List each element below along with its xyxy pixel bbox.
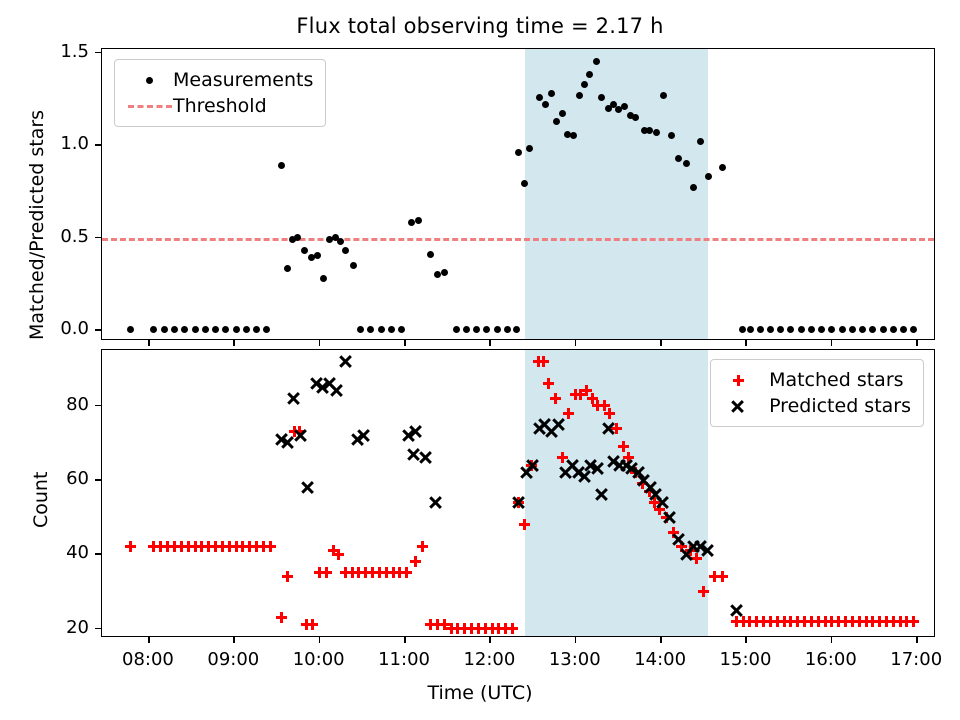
- data-point-matched-star: [536, 354, 551, 369]
- data-point-matched-star: [280, 569, 295, 584]
- legend-label-threshold: Threshold: [173, 95, 267, 117]
- data-point-matched-star: [263, 539, 278, 554]
- x-axis-tick-label: 09:00: [188, 649, 278, 670]
- y-axis-tick-label: 1.5: [19, 43, 89, 61]
- data-point-predicted-star: [300, 480, 315, 495]
- x-axis-tick: [745, 340, 747, 346]
- data-point-measurement: [453, 326, 460, 333]
- x-axis-tick-label: 10:00: [274, 649, 364, 670]
- data-point-predicted-star: [511, 495, 526, 510]
- x-axis-tick: [916, 340, 918, 346]
- data-point-predicted-star: [590, 461, 605, 476]
- data-point-measurement: [581, 81, 588, 88]
- x-axis-tick: [831, 340, 833, 346]
- legend-entry-matched-stars: Matched stars: [723, 367, 911, 393]
- x-axis-tick-label: 16:00: [786, 649, 876, 670]
- data-point-measurement: [171, 326, 178, 333]
- data-point-measurement: [301, 247, 308, 254]
- data-point-measurement: [747, 326, 754, 333]
- legend-entry-threshold: Threshold: [127, 93, 313, 119]
- data-point-measurement: [621, 103, 628, 110]
- data-point-matched-star: [602, 406, 617, 421]
- data-point-measurement: [808, 326, 815, 333]
- data-point-predicted-star: [357, 428, 372, 443]
- data-point-measurement: [294, 234, 301, 241]
- data-point-measurement: [660, 92, 667, 99]
- data-point-measurement: [798, 326, 805, 333]
- x-axis-tick: [660, 340, 662, 346]
- x-axis-tick-label: 08:00: [103, 649, 193, 670]
- data-point-measurement: [705, 173, 712, 180]
- matched-plus-icon: [723, 370, 769, 390]
- data-point-measurement: [739, 326, 746, 333]
- data-point-measurement: [473, 326, 480, 333]
- data-point-measurement: [314, 252, 321, 259]
- x-axis-tick-label: 15:00: [700, 649, 790, 670]
- data-point-measurement: [869, 326, 876, 333]
- data-point-measurement: [253, 326, 260, 333]
- x-axis-label: Time (UTC): [0, 682, 960, 704]
- data-point-predicted-star: [526, 458, 541, 473]
- legend-label-matched-stars: Matched stars: [769, 369, 903, 391]
- data-point-predicted-star: [601, 421, 616, 436]
- ratio-legend: Measurements Threshold: [114, 59, 326, 127]
- data-point-measurement: [849, 326, 856, 333]
- data-point-matched-star: [548, 391, 563, 406]
- data-point-matched-star: [505, 621, 520, 636]
- data-point-measurement: [483, 326, 490, 333]
- data-point-measurement: [719, 164, 726, 171]
- data-point-measurement: [880, 326, 887, 333]
- data-point-matched-star: [415, 539, 430, 554]
- data-point-measurement: [398, 326, 405, 333]
- x-axis-tick-label: 13:00: [530, 649, 620, 670]
- data-point-measurement: [212, 326, 219, 333]
- x-axis-tick: [489, 340, 491, 346]
- x-axis-tick-label: 14:00: [615, 649, 705, 670]
- data-point-matched-star: [541, 376, 556, 391]
- data-point-matched-star: [305, 617, 320, 632]
- data-point-matched-star: [331, 547, 346, 562]
- data-point-measurement: [646, 127, 653, 134]
- data-point-measurement: [828, 326, 835, 333]
- y-axis-tick-label: 80: [19, 396, 89, 414]
- data-point-measurement: [632, 114, 639, 121]
- x-axis-tick: [660, 637, 662, 643]
- figure-title: Flux total observing time = 2.17 h: [0, 14, 960, 38]
- data-point-measurement: [757, 326, 764, 333]
- data-point-matched-star: [319, 565, 334, 580]
- legend-entry-measurements: Measurements: [127, 67, 313, 93]
- data-point-measurement: [463, 326, 470, 333]
- data-point-measurement: [357, 326, 364, 333]
- data-point-measurement: [777, 326, 784, 333]
- data-point-measurement: [342, 247, 349, 254]
- data-point-measurement: [127, 326, 134, 333]
- y-axis-tick-label: 1.0: [19, 135, 89, 153]
- x-axis-tick: [319, 637, 321, 643]
- x-axis-tick: [148, 340, 150, 346]
- y-axis-tick: [95, 628, 101, 630]
- x-axis-tick: [575, 340, 577, 346]
- data-point-measurement: [415, 217, 422, 224]
- data-point-measurement: [278, 162, 285, 169]
- y-axis-tick: [95, 405, 101, 407]
- data-point-matched-star: [517, 517, 532, 532]
- data-point-measurement: [337, 238, 344, 245]
- data-point-measurement: [388, 326, 395, 333]
- data-point-predicted-star: [662, 510, 677, 525]
- count-panel: Matched stars Predicted stars: [101, 349, 935, 637]
- data-point-measurement: [150, 326, 157, 333]
- y-axis-tick: [95, 479, 101, 481]
- x-axis-tick: [575, 637, 577, 643]
- y-axis-tick: [95, 144, 101, 146]
- data-point-measurement: [542, 101, 549, 108]
- data-point-matched-star: [408, 554, 423, 569]
- data-point-measurement: [787, 326, 794, 333]
- predicted-cross-icon: [723, 396, 769, 416]
- data-point-measurement: [890, 326, 897, 333]
- data-point-predicted-star: [287, 391, 302, 406]
- data-point-measurement: [536, 94, 543, 101]
- x-axis-tick: [319, 340, 321, 346]
- y-axis-tick-label: 0.0: [19, 320, 89, 338]
- data-point-predicted-star: [551, 417, 566, 432]
- data-point-measurement: [767, 326, 774, 333]
- data-point-measurement: [515, 149, 522, 156]
- data-point-measurement: [675, 155, 682, 162]
- data-point-measurement: [513, 326, 520, 333]
- data-point-matched-star: [123, 539, 138, 554]
- data-point-measurement: [910, 326, 917, 333]
- data-point-matched-star: [274, 610, 289, 625]
- data-point-measurement: [900, 326, 907, 333]
- x-axis-tick-label: 11:00: [359, 649, 449, 670]
- legend-entry-predicted-stars: Predicted stars: [723, 393, 911, 419]
- data-point-measurement: [243, 326, 250, 333]
- y-axis-tick: [95, 237, 101, 239]
- legend-label-measurements: Measurements: [173, 69, 313, 91]
- y-axis-tick-label: 0.5: [19, 228, 89, 246]
- y-axis-tick: [95, 553, 101, 555]
- data-point-measurement: [367, 326, 374, 333]
- legend-label-predicted-stars: Predicted stars: [769, 395, 911, 417]
- data-point-measurement: [222, 326, 229, 333]
- data-point-measurement: [653, 129, 660, 136]
- y-axis-tick: [95, 52, 101, 54]
- data-point-measurement: [576, 92, 583, 99]
- data-point-predicted-star: [729, 603, 744, 618]
- x-axis-tick: [831, 637, 833, 643]
- data-point-measurement: [378, 326, 385, 333]
- x-axis-tick-label: 12:00: [444, 649, 534, 670]
- threshold-dash-icon: [127, 96, 173, 116]
- data-point-measurement: [839, 326, 846, 333]
- data-point-measurement: [504, 326, 511, 333]
- data-point-measurement: [598, 94, 605, 101]
- x-axis-tick: [404, 637, 406, 643]
- x-axis-tick: [489, 637, 491, 643]
- data-point-measurement: [441, 269, 448, 276]
- data-point-measurement: [263, 326, 270, 333]
- threshold-line: [102, 238, 934, 241]
- ratio-panel: Measurements Threshold: [101, 48, 935, 340]
- count-legend: Matched stars Predicted stars: [710, 359, 924, 427]
- x-axis-tick: [745, 637, 747, 643]
- x-axis-tick: [148, 637, 150, 643]
- data-point-measurement: [320, 275, 327, 282]
- x-axis-tick-label: 17:00: [871, 649, 960, 670]
- data-point-matched-star: [696, 584, 711, 599]
- data-point-matched-star: [715, 569, 730, 584]
- data-point-predicted-star: [428, 495, 443, 510]
- measurements-dot-icon: [127, 70, 173, 90]
- data-point-measurement: [427, 251, 434, 258]
- data-point-measurement: [181, 326, 188, 333]
- data-point-measurement: [202, 326, 209, 333]
- data-point-measurement: [859, 326, 866, 333]
- data-point-predicted-star: [293, 428, 308, 443]
- data-point-predicted-star: [329, 383, 344, 398]
- data-point-predicted-star: [700, 543, 715, 558]
- data-point-predicted-star: [655, 495, 670, 510]
- data-point-predicted-star: [408, 424, 423, 439]
- y-axis-tick: [95, 329, 101, 331]
- y-axis-tick-label: 40: [19, 544, 89, 562]
- y-axis-tick-label: 20: [19, 619, 89, 637]
- figure-root: Flux total observing time = 2.17 h Measu…: [0, 0, 960, 720]
- data-point-measurement: [284, 265, 291, 272]
- x-axis-tick: [233, 340, 235, 346]
- data-point-measurement: [350, 262, 357, 269]
- x-axis-tick: [233, 637, 235, 643]
- data-point-measurement: [192, 326, 199, 333]
- data-point-predicted-star: [338, 354, 353, 369]
- x-axis-tick: [404, 340, 406, 346]
- data-point-measurement: [494, 326, 501, 333]
- data-point-measurement: [697, 138, 704, 145]
- data-point-measurement: [434, 271, 441, 278]
- y-axis-tick-label: 60: [19, 470, 89, 488]
- x-axis-tick: [916, 637, 918, 643]
- data-point-measurement: [818, 326, 825, 333]
- data-point-measurement: [233, 326, 240, 333]
- data-point-matched-star: [906, 614, 921, 629]
- data-point-predicted-star: [418, 450, 433, 465]
- data-point-measurement: [161, 326, 168, 333]
- data-point-predicted-star: [594, 487, 609, 502]
- data-point-predicted-star: [671, 532, 686, 547]
